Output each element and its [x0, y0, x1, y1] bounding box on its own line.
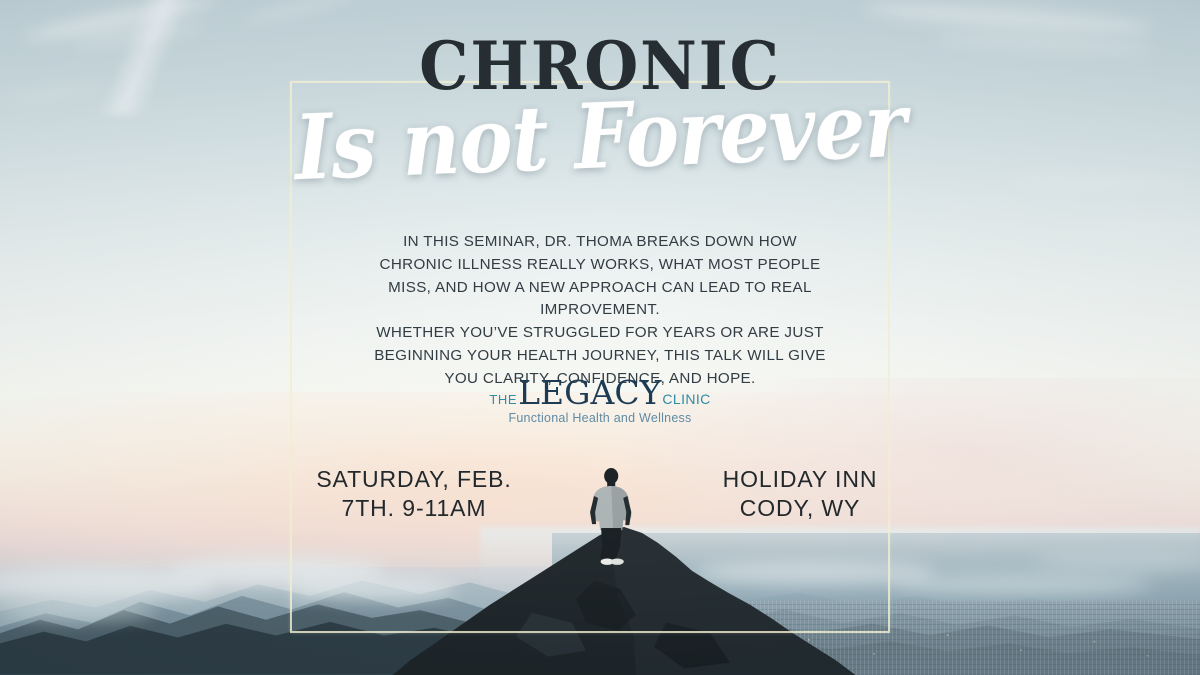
logo-legacy-text: LEGACY [518, 376, 661, 409]
legacy-clinic-logo: THE LEGACY CLINIC Functional Health and … [489, 376, 710, 425]
logo-the-text: THE [489, 393, 518, 408]
logo-clinic-text: CLINIC [661, 392, 710, 408]
logo-wordmark: THE LEGACY CLINIC [489, 376, 710, 409]
poster-content: CHRONIC Is not Forever IN THIS SEMINAR, … [0, 0, 1200, 675]
seminar-description: IN THIS SEMINAR, DR. THOMA BREAKS DOWN H… [365, 231, 835, 391]
poster-canvas: CHRONIC Is not Forever IN THIS SEMINAR, … [0, 0, 1200, 675]
logo-tagline: Functional Health and Wellness [489, 412, 710, 425]
event-date-time: SATURDAY, FEB. 7TH. 9-11AM [254, 465, 574, 522]
event-venue-location: HOLIDAY INN CODY, WY [640, 465, 960, 522]
description-paragraph-1: IN THIS SEMINAR, DR. THOMA BREAKS DOWN H… [365, 231, 835, 322]
